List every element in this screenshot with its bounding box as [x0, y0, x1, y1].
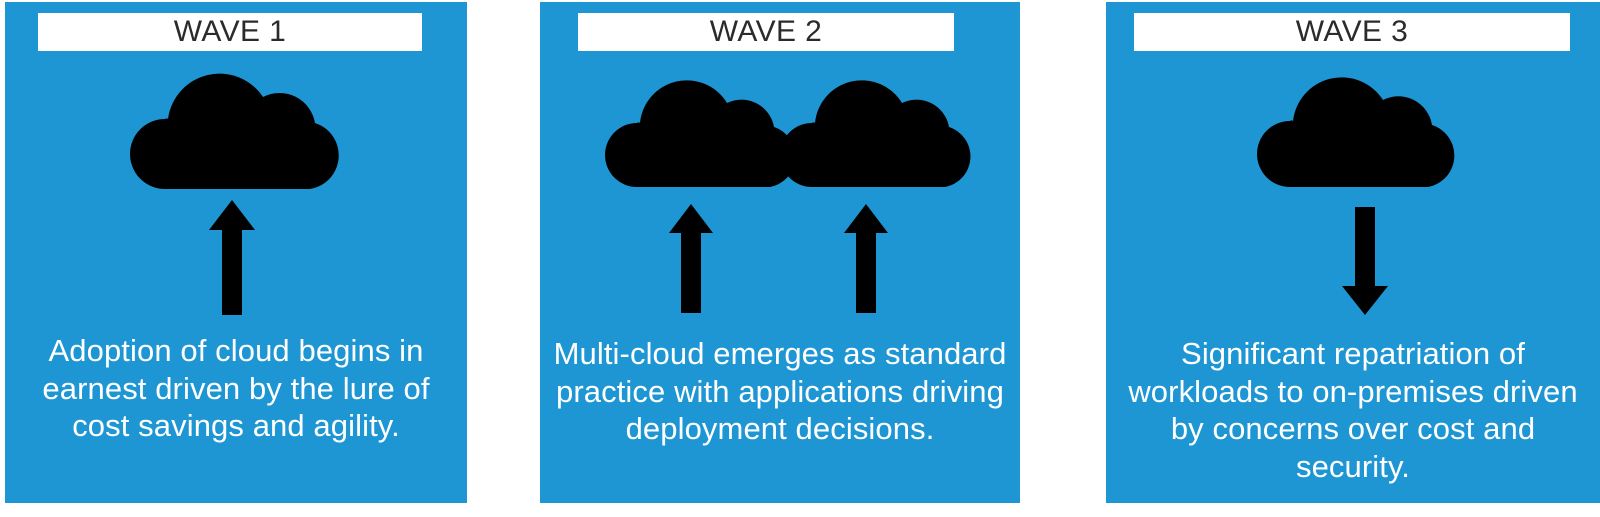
- wave-2-body: Multi-cloud emerges as standard practice…: [550, 335, 1010, 448]
- cloud-icon: [605, 80, 795, 187]
- wave-2-panel: WAVE 2 Multi-cloud emer: [540, 2, 1020, 503]
- wave-2-title-box: WAVE 2: [578, 13, 954, 51]
- wave-3-panel: WAVE 3 Significant repatriation of workl…: [1106, 2, 1600, 503]
- wave-1-heading: WAVE 1: [174, 17, 286, 47]
- arrow-up-icon: [669, 204, 713, 313]
- wave-3-body: Significant repatriation of workloads to…: [1116, 335, 1590, 485]
- wave-1-title-box: WAVE 1: [38, 13, 422, 51]
- cloud-icon: [780, 80, 970, 187]
- arrow-up-icon: [844, 204, 888, 313]
- wave-3-heading: WAVE 3: [1296, 17, 1408, 47]
- diagram-canvas: WAVE 1 Adoption of cloud begins in earne…: [0, 0, 1600, 517]
- arrow-up-icon: [209, 200, 255, 315]
- arrow-down-icon: [1342, 207, 1388, 315]
- wave-1-panel: WAVE 1 Adoption of cloud begins in earne…: [5, 2, 467, 503]
- wave-1-body: Adoption of cloud begins in earnest driv…: [15, 332, 457, 445]
- wave-3-title-box: WAVE 3: [1134, 13, 1570, 51]
- cloud-icon: [1257, 77, 1454, 187]
- wave-2-heading: WAVE 2: [710, 17, 822, 47]
- cloud-icon: [130, 74, 339, 189]
